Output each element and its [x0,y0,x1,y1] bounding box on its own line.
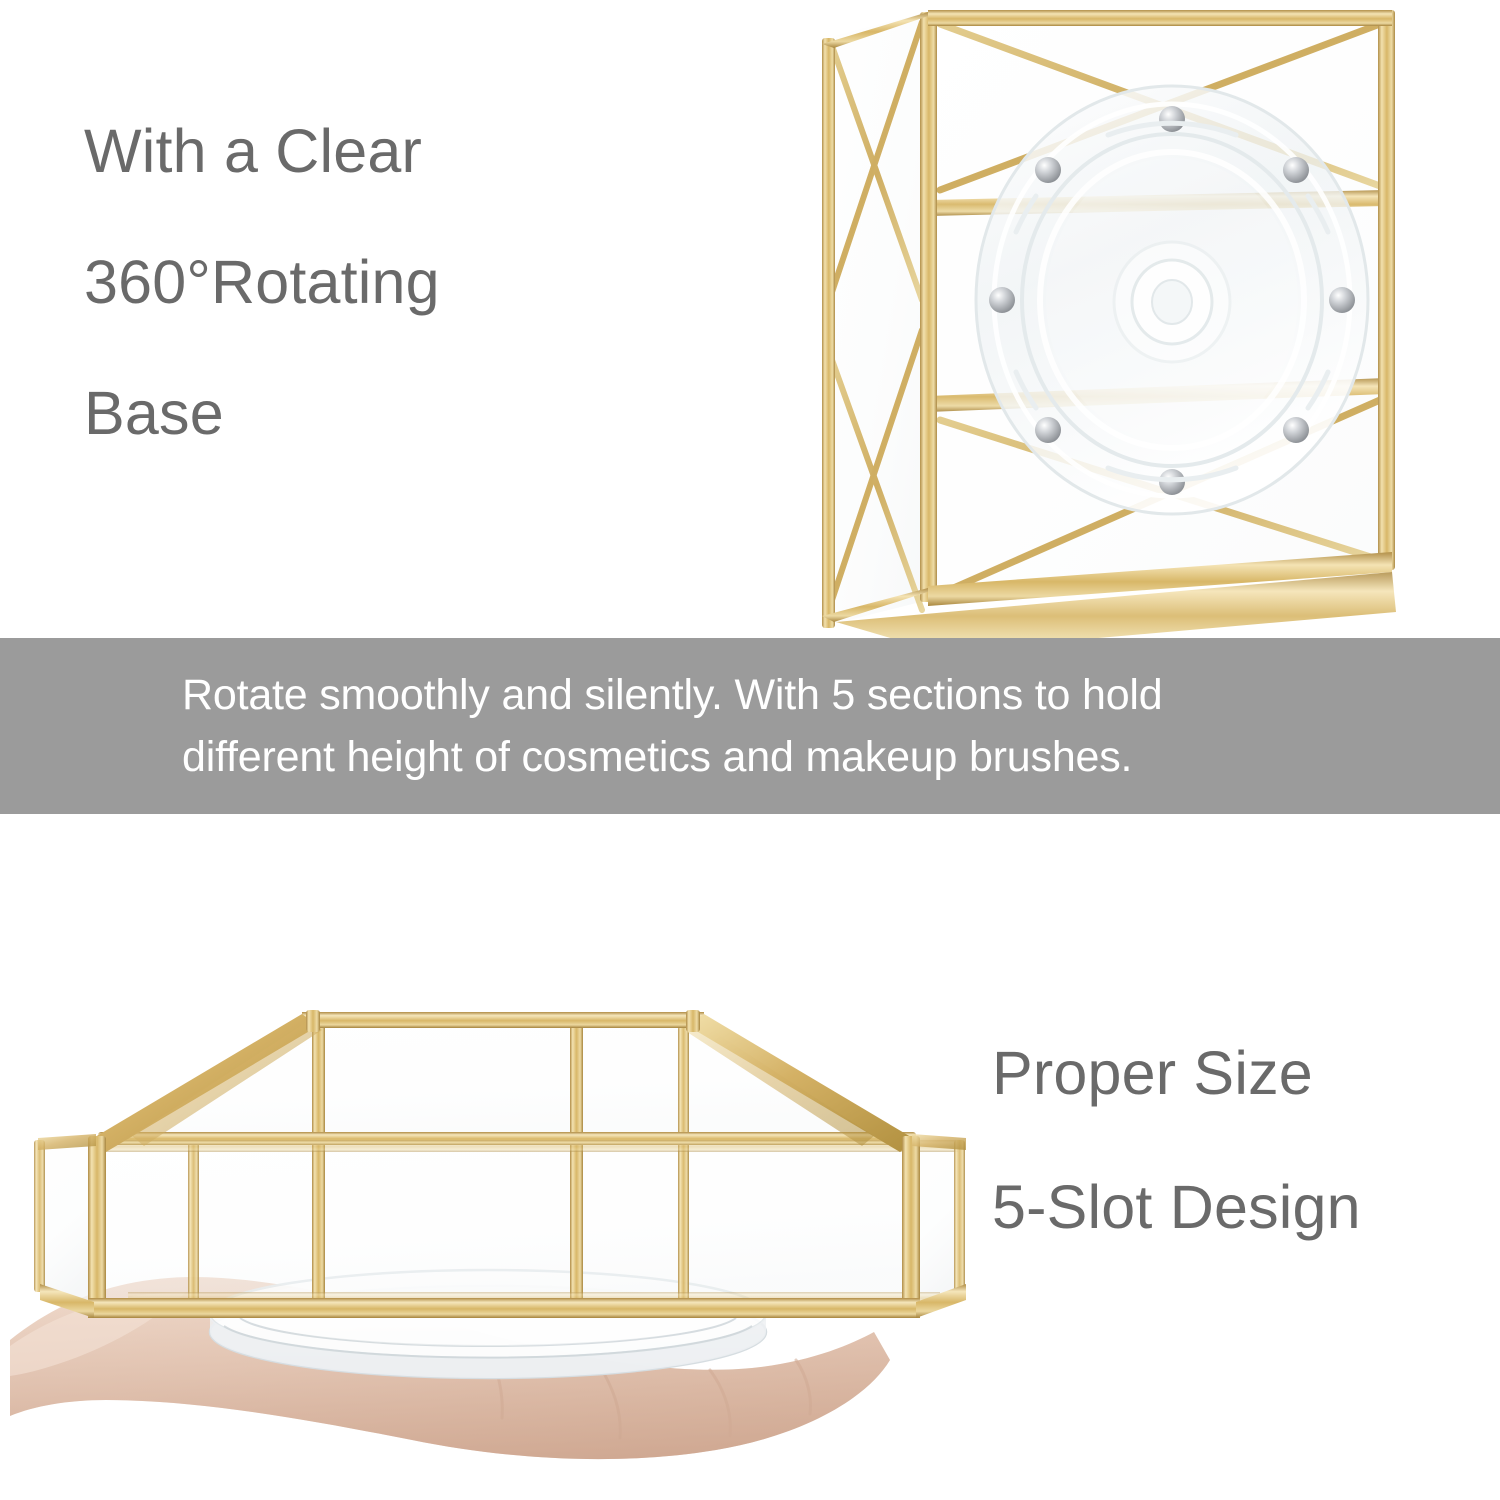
headline-line: 5-Slot Design [992,1140,1492,1274]
product-photo-five-slot-organizer [10,840,1000,1500]
glass-panels-bottom [40,1016,962,1308]
rotating-turntable-top [976,86,1368,514]
product-photo-rotating-base [800,0,1440,650]
headline-proper-size: Proper Size 5-Slot Design [992,1006,1492,1274]
headline-line: 360°Rotating [84,217,704,348]
headline-line: With a Clear [84,86,704,217]
banner-line: Rotate smoothly and silently. With 5 sec… [182,664,1350,726]
feature-banner: Rotate smoothly and silently. With 5 sec… [0,638,1500,814]
headline-line: Proper Size [992,1006,1492,1140]
banner-line: different height of cosmetics and makeup… [182,726,1350,788]
turntable-hub [1114,242,1230,362]
headline-line: Base [84,348,704,479]
headline-rotating-base: With a Clear 360°Rotating Base [84,86,704,479]
product-feature-graphic: With a Clear 360°Rotating Base Rotate sm… [0,0,1500,1500]
